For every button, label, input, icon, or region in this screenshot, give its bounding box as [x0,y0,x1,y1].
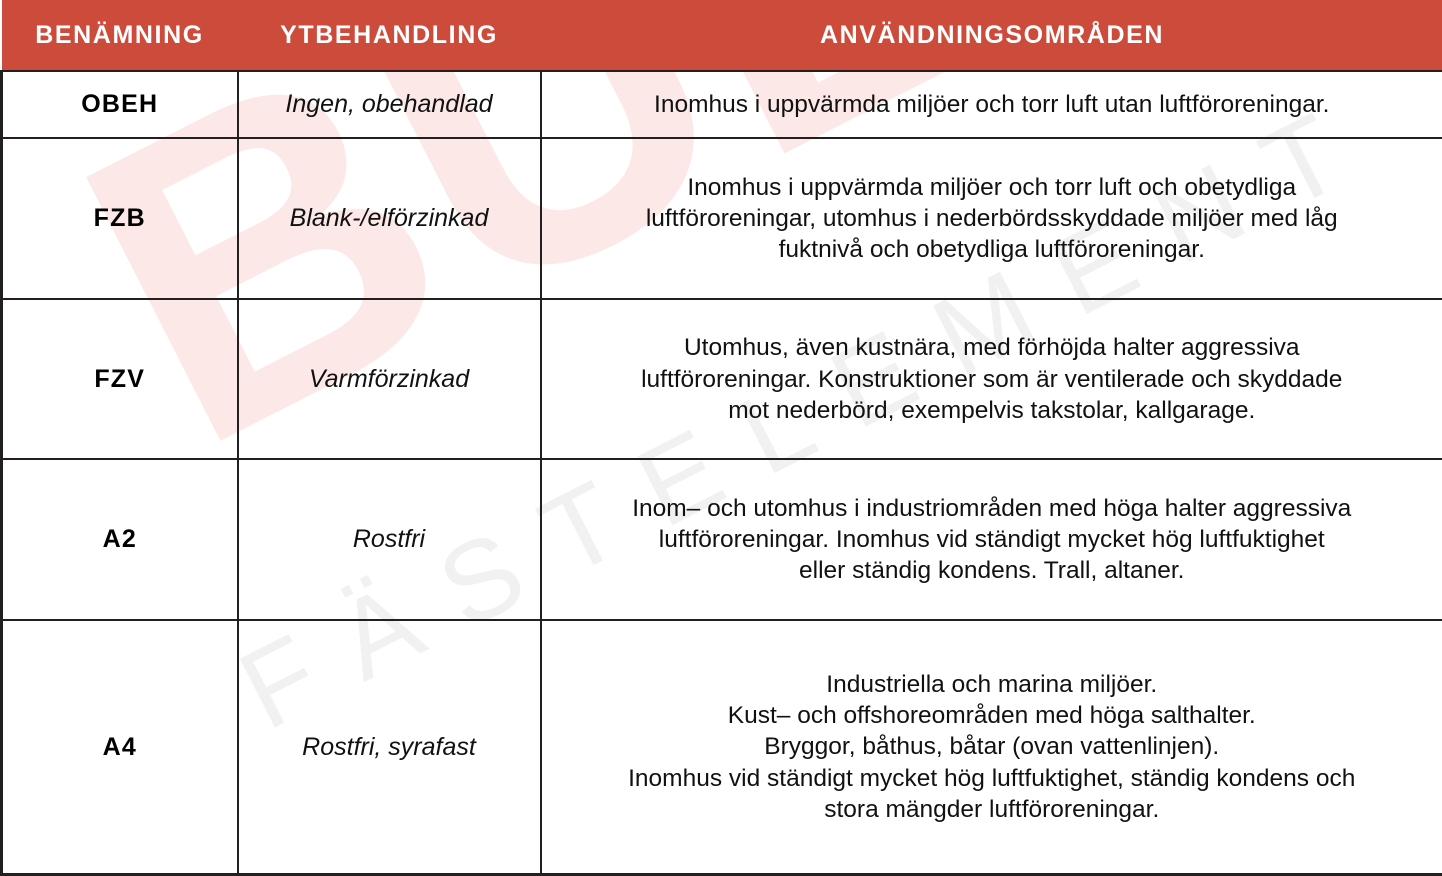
table-row: OBEHIngen, obehandladInomhus i uppvärmda… [2,71,1442,138]
usage-line: stora mängder luftföroreningar. [568,794,1417,825]
usage-line: luftföroreningar, utomhus i nederbördssk… [568,203,1417,234]
usage-line: eller ständig kondens. Trall, altaner. [568,555,1417,586]
table-row: FZBBlank-/elförzinkadInomhus i uppvärmda… [2,138,1442,299]
usage-line: Kust– och offshoreområden med höga salth… [568,700,1417,731]
surface-treatment-table-wrapper: BENÄMNING YTBEHANDLING ANVÄNDNINGSOMRÅDE… [0,0,1442,876]
cell-anvandningsomraden: Inomhus i uppvärmda miljöer och torr luf… [541,138,1442,299]
cell-benamning: A4 [2,620,238,874]
column-header-anvandningsomraden: ANVÄNDNINGSOMRÅDEN [541,0,1442,71]
cell-ytbehandling: Varmförzinkad [238,299,541,460]
cell-anvandningsomraden: Inom– och utomhus i industriområden med … [541,459,1442,620]
table-header: BENÄMNING YTBEHANDLING ANVÄNDNINGSOMRÅDE… [2,0,1442,71]
usage-line: Inomhus vid ständigt mycket hög luftfukt… [568,763,1417,794]
cell-anvandningsomraden: Industriella och marina miljöer.Kust– oc… [541,620,1442,874]
usage-line: mot nederbörd, exempelvis takstolar, kal… [568,395,1417,426]
surface-treatment-table: BENÄMNING YTBEHANDLING ANVÄNDNINGSOMRÅDE… [0,0,1442,876]
usage-line: Utomhus, även kustnära, med förhöjda hal… [568,332,1417,363]
table-row: A2RostfriInom– och utomhus i industriomr… [2,459,1442,620]
usage-line: Inom– och utomhus i industriområden med … [568,493,1417,524]
cell-benamning: FZV [2,299,238,460]
usage-line: Inomhus i uppvärmda miljöer och torr luf… [568,89,1417,120]
cell-anvandningsomraden: Utomhus, även kustnära, med förhöjda hal… [541,299,1442,460]
cell-benamning: A2 [2,459,238,620]
usage-line: Inomhus i uppvärmda miljöer och torr luf… [568,172,1417,203]
cell-ytbehandling: Ingen, obehandlad [238,71,541,138]
usage-line: luftföroreningar. Konstruktioner som är … [568,364,1417,395]
cell-benamning: OBEH [2,71,238,138]
cell-ytbehandling: Rostfri, syrafast [238,620,541,874]
table-body: OBEHIngen, obehandladInomhus i uppvärmda… [2,71,1442,875]
cell-anvandningsomraden: Inomhus i uppvärmda miljöer och torr luf… [541,71,1442,138]
column-header-ytbehandling: YTBEHANDLING [238,0,541,71]
page-root: BULTAB FÄSTELEMENT BENÄMNING YTBEHANDLIN… [0,0,1442,876]
usage-line: fuktnivå och obetydliga luftföroreningar… [568,234,1417,265]
cell-benamning: FZB [2,138,238,299]
column-header-benamning: BENÄMNING [2,0,238,71]
table-row: FZVVarmförzinkadUtomhus, även kustnära, … [2,299,1442,460]
cell-ytbehandling: Blank-/elförzinkad [238,138,541,299]
usage-line: luftföroreningar. Inomhus vid ständigt m… [568,524,1417,555]
usage-line: Industriella och marina miljöer. [568,669,1417,700]
table-header-row: BENÄMNING YTBEHANDLING ANVÄNDNINGSOMRÅDE… [2,0,1442,71]
cell-ytbehandling: Rostfri [238,459,541,620]
usage-line: Bryggor, båthus, båtar (ovan vattenlinje… [568,731,1417,762]
table-row: A4Rostfri, syrafastIndustriella och mari… [2,620,1442,874]
